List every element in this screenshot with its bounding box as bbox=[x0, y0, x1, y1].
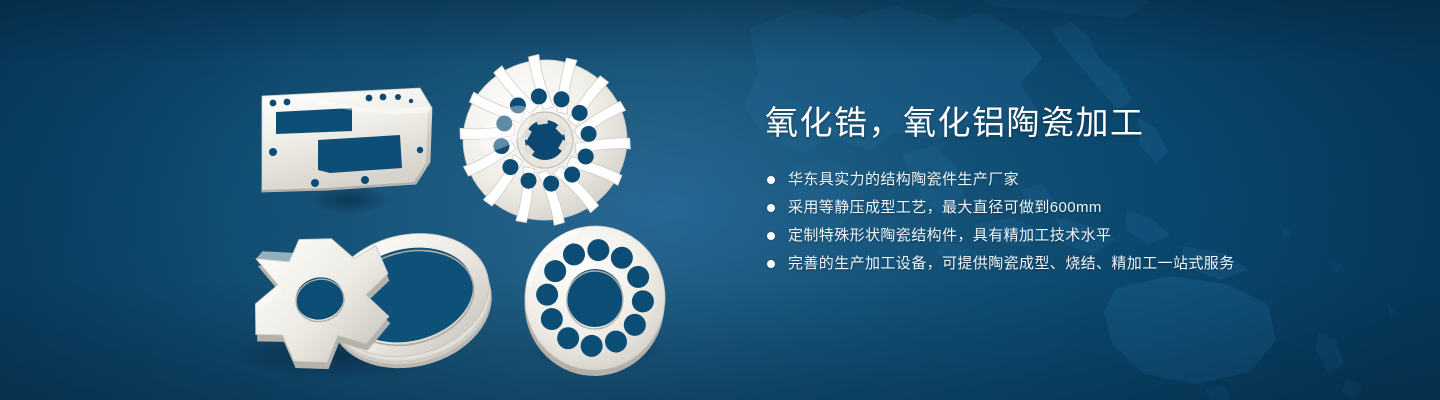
bullet-dot-icon bbox=[767, 232, 775, 240]
ceramic-flat-plate bbox=[262, 88, 432, 192]
feature-item-4: 完善的生产加工设备，可提供陶瓷成型、烧结、精加工一站式服务 bbox=[765, 253, 1385, 275]
feature-text: 采用等静压成型工艺，最大直径可做到600mm bbox=[788, 197, 1102, 219]
feature-list: 华东具实力的结构陶瓷件生产厂家 采用等静压成型工艺，最大直径可做到600mm 定… bbox=[765, 169, 1385, 275]
ceramic-impeller-disc bbox=[446, 40, 644, 239]
feature-item-3: 定制特殊形状陶瓷结构件，具有精加工技术水平 bbox=[765, 225, 1385, 247]
banner-headline: 氧化锆，氧化铝陶瓷加工 bbox=[765, 104, 1385, 143]
feature-text: 定制特殊形状陶瓷结构件，具有精加工技术水平 bbox=[788, 225, 1111, 247]
ceramic-product-illustration bbox=[0, 0, 700, 400]
bullet-dot-icon bbox=[767, 204, 775, 212]
feature-text: 华东具实力的结构陶瓷件生产厂家 bbox=[788, 169, 1019, 191]
feature-item-2: 采用等静压成型工艺，最大直径可做到600mm bbox=[765, 197, 1385, 219]
bullet-dot-icon bbox=[767, 176, 775, 184]
bullet-dot-icon bbox=[767, 260, 775, 268]
feature-item-1: 华东具实力的结构陶瓷件生产厂家 bbox=[765, 169, 1385, 191]
banner-copy: 氧化锆，氧化铝陶瓷加工 华东具实力的结构陶瓷件生产厂家 采用等静压成型工艺，最大… bbox=[765, 104, 1385, 275]
promo-banner: 氧化锆，氧化铝陶瓷加工 华东具实力的结构陶瓷件生产厂家 采用等静压成型工艺，最大… bbox=[0, 0, 1440, 400]
feature-text: 完善的生产加工设备，可提供陶瓷成型、烧结、精加工一站式服务 bbox=[788, 253, 1235, 275]
ceramic-product-group bbox=[0, 0, 700, 400]
